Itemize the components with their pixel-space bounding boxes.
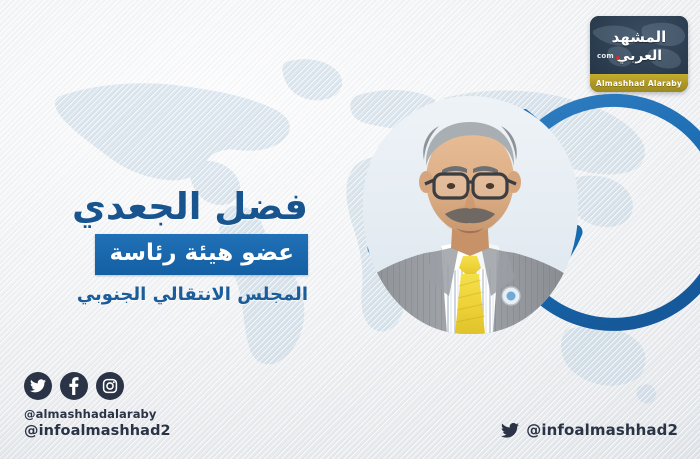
portrait-frame xyxy=(345,86,595,336)
subject-organization: المجلس الانتقالي الجنوبي xyxy=(58,284,308,306)
instagram-icon[interactable] xyxy=(96,372,124,400)
subject-role-badge: عضو هيئة رئاسة xyxy=(95,234,308,275)
logo-com-label: com xyxy=(597,52,614,60)
logo-name-strip: Almashhad Alaraby xyxy=(590,74,688,92)
twitter-icon[interactable] xyxy=(24,372,52,400)
social-block: @almashhadalaraby @infoalmashhad2 xyxy=(24,372,171,441)
subject-text-block: فضل الجعدي عضو هيئة رئاسة المجلس الانتقا… xyxy=(58,186,308,306)
social-icon-row xyxy=(24,372,171,400)
brand-logo[interactable]: المشهد العربي com Almashhad Alaraby xyxy=(590,16,688,92)
social-handle-primary[interactable]: @almashhadalaraby xyxy=(24,407,171,422)
social-handle-secondary[interactable]: @infoalmashhad2 xyxy=(24,422,171,441)
logo-arabic-line-1: المشهد xyxy=(590,30,688,45)
footer-twitter-handle: @infoalmashhad2 xyxy=(526,421,678,439)
logo-latin-name: Almashhad Alaraby xyxy=(596,79,682,88)
social-media-poster: المشهد العربي com Almashhad Alaraby xyxy=(0,0,700,459)
logo-red-dot-icon xyxy=(616,56,620,60)
subject-photo xyxy=(363,96,578,334)
twitter-bird-icon xyxy=(501,423,519,438)
facebook-icon[interactable] xyxy=(60,372,88,400)
subject-name: فضل الجعدي xyxy=(58,186,308,228)
footer-twitter-tag[interactable]: @infoalmashhad2 xyxy=(501,421,678,439)
logo-top-panel: المشهد العربي com xyxy=(590,16,688,74)
